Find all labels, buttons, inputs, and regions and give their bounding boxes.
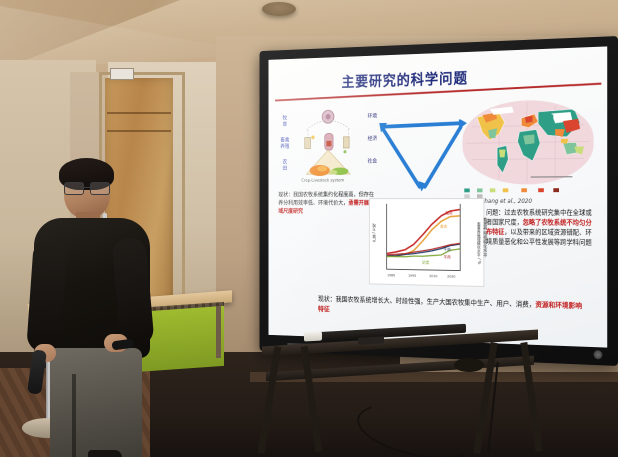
- legend-swatch: [490, 188, 496, 192]
- chart-series-label: 牛肉: [444, 247, 451, 252]
- chart-xtick: 1980: [387, 273, 395, 277]
- chart-series-label: 奶类: [422, 260, 429, 265]
- chart-series-label: 猪肉: [445, 211, 452, 216]
- slide: 主要研究的科学问题: [268, 46, 607, 347]
- diagram-svg: [295, 108, 362, 185]
- stand-leg: [258, 346, 282, 454]
- ceiling-fixture-icon: [262, 2, 296, 16]
- chart-series-label: 羊肉: [444, 255, 451, 260]
- diagram-label-right-2: 经济: [367, 136, 377, 143]
- glasses-lens-left: [64, 182, 84, 195]
- map-scale-bar: [531, 176, 573, 181]
- diagram-label-right-1: 环境: [367, 114, 377, 121]
- legend-swatch: [553, 188, 559, 192]
- paragraph-right: 问题：过去农牧系统研究集中在全球或者国家尺度，忽略了农牧系统不均匀分布特征，以及…: [486, 208, 597, 248]
- legend-swatch: [503, 188, 509, 192]
- door-sensor-icon: [110, 68, 134, 80]
- diagram-label-left-2: 畜禽 养殖: [280, 138, 290, 151]
- agro-pastoral-diagram: 牧 草 畜禽 养殖 农 田 环境 经济 社会 Crop-Livestock sy…: [280, 104, 378, 187]
- paragraph-bottom: 现状：我国农牧系统增长大、时段性强，生产大国农牧集中生产、用户、消费，资源和环境…: [318, 294, 588, 323]
- chart-xtick: 2010: [429, 274, 437, 278]
- door-panel-line: [107, 130, 171, 132]
- map-legend: [464, 186, 576, 198]
- display-stand: [246, 336, 576, 457]
- legend-swatch: [477, 188, 482, 192]
- paragraph-left-text-3: 代价大，: [328, 200, 348, 207]
- stand-leg: [301, 346, 323, 452]
- paragraph-left: 现状：我国农牧系统集约化程度高，但存在养分利用效率低、环境代价大，亟需开展区域尺…: [278, 191, 377, 216]
- presenter-legs: [50, 348, 142, 457]
- display-assembly[interactable]: 主要研究的科学问题: [260, 36, 618, 366]
- paragraph-bottom-text-1: 现状：我国农牧系统增长大、时段性强，生产大国农牧集中: [318, 295, 477, 307]
- chart-x-axis: [386, 269, 460, 271]
- cycle-arrows-svg: [378, 119, 470, 194]
- door-panel-line: [107, 112, 171, 114]
- chart-xtick: 1995: [408, 274, 416, 278]
- power-cable: [352, 394, 484, 457]
- presenter: [28, 158, 158, 457]
- presenter-leg-split: [72, 374, 76, 457]
- paragraph-bottom-text-2: 生产、用户、消费，: [477, 299, 535, 308]
- line-chart: 产量 / 万吨 畜禽养殖规模化水平 / % 猪肉 禽肉 牛肉 羊肉 奶类 198…: [369, 198, 484, 287]
- paragraph-left-text-1: 现状：我国农牧系统集约化程度高，但: [278, 192, 363, 199]
- legend-swatch: [538, 188, 544, 192]
- whiteboard-eraser[interactable]: [304, 332, 322, 342]
- chart-series-label: 禽肉: [440, 224, 447, 229]
- slide-title: 主要研究的科学问题: [342, 67, 468, 91]
- presenter-shoe: [88, 450, 122, 457]
- chart-ylabel: 产量 / 万吨: [372, 223, 377, 242]
- map-citation: Zhang et al., 2020: [481, 198, 532, 205]
- presentation-room-photo: 主要研究的科学问题: [0, 0, 618, 457]
- chart-y2-axis: [460, 204, 461, 271]
- cycle-arrows-icon: [378, 119, 470, 194]
- table-leg: [216, 306, 221, 358]
- diagram-label-left-3: 农 田: [280, 160, 290, 173]
- diagram-label-right-3: 社会: [367, 159, 377, 166]
- diagram-label-left-1: 牧 草: [280, 116, 290, 129]
- remote-control[interactable]: [358, 336, 384, 344]
- world-map: [462, 99, 593, 185]
- glasses-bridge: [82, 187, 92, 188]
- glasses-lens-right: [90, 182, 110, 195]
- legend-swatch: [464, 188, 469, 192]
- chart-xtick: 2020: [447, 275, 455, 279]
- umbrella[interactable]: [27, 349, 47, 395]
- paragraph-right-prefix: 问题：: [486, 209, 504, 217]
- glasses-icon: [64, 182, 110, 193]
- legend-swatch: [521, 188, 527, 192]
- power-button-icon[interactable]: [594, 350, 603, 359]
- world-map-svg: [462, 99, 593, 185]
- diagram-caption: Crop-Livestock system: [301, 179, 344, 184]
- stand-wheel: [454, 358, 484, 372]
- display-screen[interactable]: 主要研究的科学问题: [268, 46, 607, 347]
